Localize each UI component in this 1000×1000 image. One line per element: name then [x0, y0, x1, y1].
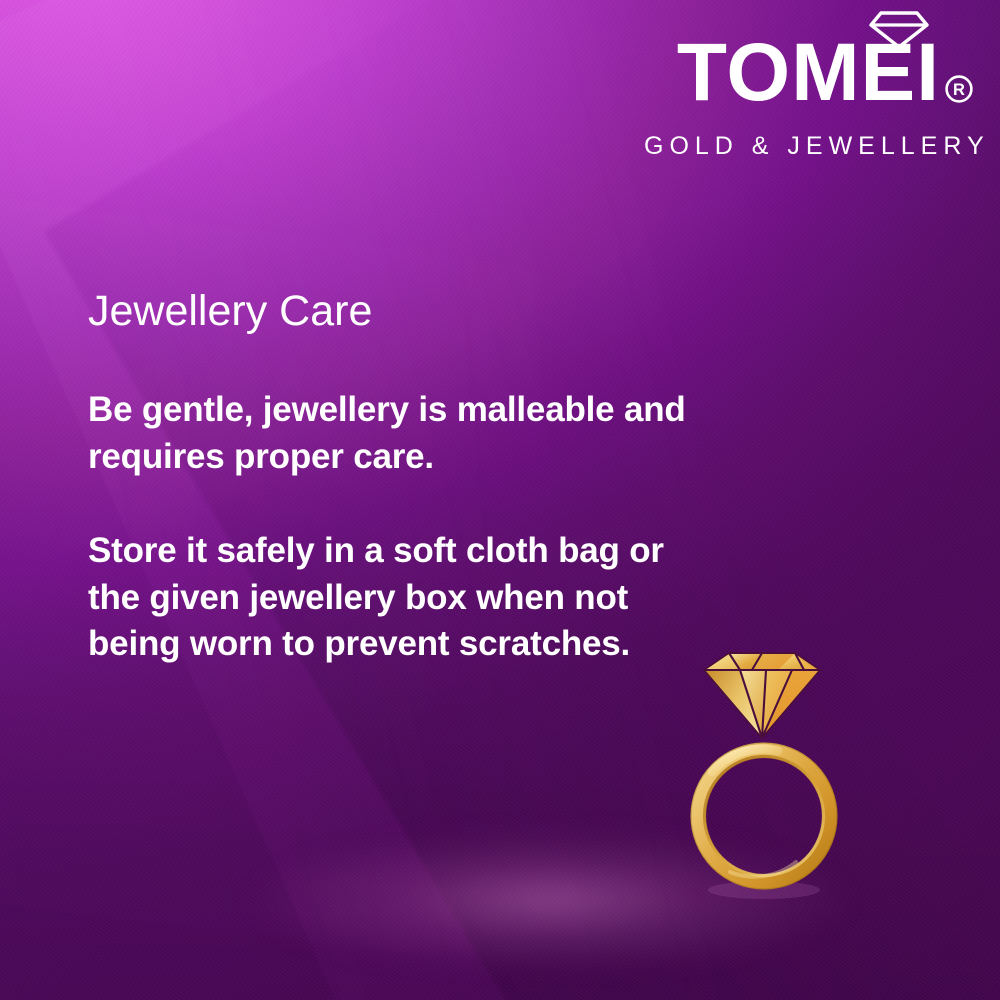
- brand-logo: TOMEI R GOLD & JEWELLERY: [644, 14, 974, 161]
- logo-mark: TOMEI R: [644, 14, 974, 138]
- svg-text:R: R: [953, 81, 965, 99]
- registered-trademark-icon: R: [944, 74, 974, 104]
- gold-ring-band-icon: [691, 743, 837, 899]
- copy-block: Jewellery Care Be gentle, jewellery is m…: [88, 288, 688, 668]
- care-tip-paragraph-2: Store it safely in a soft cloth bag or t…: [88, 528, 688, 668]
- diamond-ring-graphic: [692, 640, 882, 920]
- care-tip-paragraph-1: Be gentle, jewellery is malleable and re…: [88, 387, 688, 480]
- diamond-ring-illustration: [692, 640, 882, 920]
- diamond-gem-icon: [704, 653, 820, 738]
- page-title: Jewellery Care: [88, 288, 688, 335]
- poster-canvas: TOMEI R GOLD & JEWELLERY Jewellery Care …: [0, 0, 1000, 1000]
- logo-wordmark: TOMEI: [677, 32, 940, 114]
